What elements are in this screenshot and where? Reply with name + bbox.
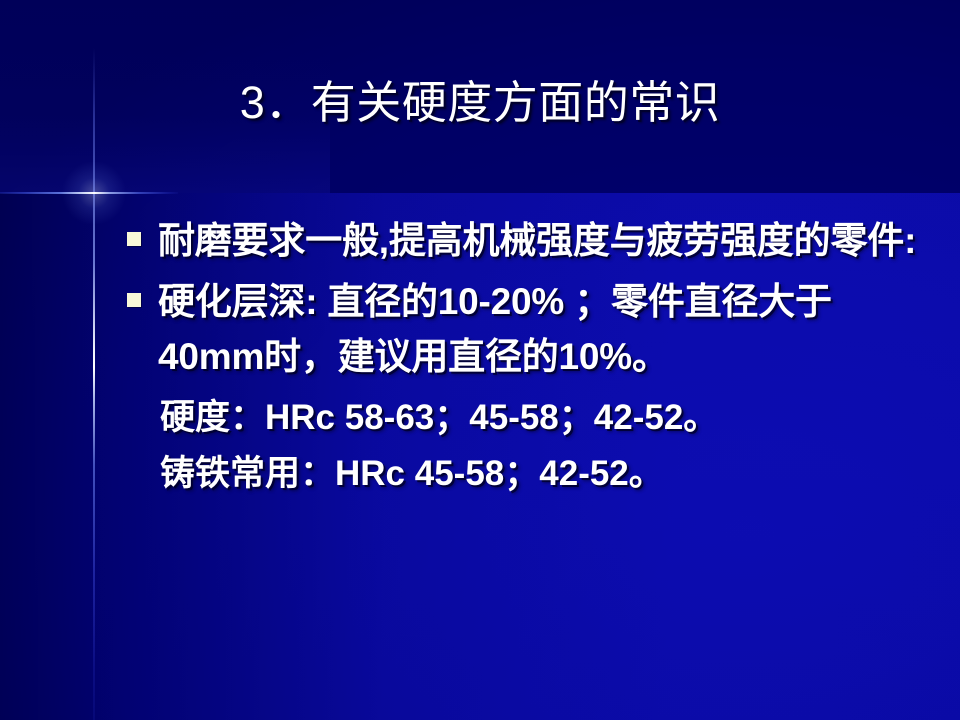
square-bullet-icon [127,232,141,246]
list-item-label: 硬化层深: 直径的10-20% ；零件直径大于40mm时，建议用直径的10%。 [158,274,930,384]
slide-body: 耐磨要求一般,提高机械强度与疲劳强度的零件: 硬化层深: 直径的10-20% ；… [120,213,930,502]
list-item-label: 耐磨要求一般,提高机械强度与疲劳强度的零件: [158,213,930,268]
list-item: 铸铁常用：HRc 45-58；42-52。 [120,446,930,502]
square-bullet-icon [127,293,141,307]
slide-canvas: 3．有关硬度方面的常识 耐磨要求一般,提高机械强度与疲劳强度的零件: 硬化层深:… [0,0,960,720]
crosshair-vertical-line-icon [93,48,95,720]
list-item-label: 硬度：HRc 58-63；45-58；42-52。 [160,390,930,446]
list-item-label: 铸铁常用：HRc 45-58；42-52。 [160,446,930,502]
crosshair-horizontal-line-icon [0,192,178,194]
list-item: 硬化层深: 直径的10-20% ；零件直径大于40mm时，建议用直径的10%。 [120,274,930,384]
list-item: 硬度：HRc 58-63；45-58；42-52。 [120,390,930,446]
slide-title: 3．有关硬度方面的常识 [0,78,960,128]
list-item: 耐磨要求一般,提高机械强度与疲劳强度的零件: [120,213,930,268]
